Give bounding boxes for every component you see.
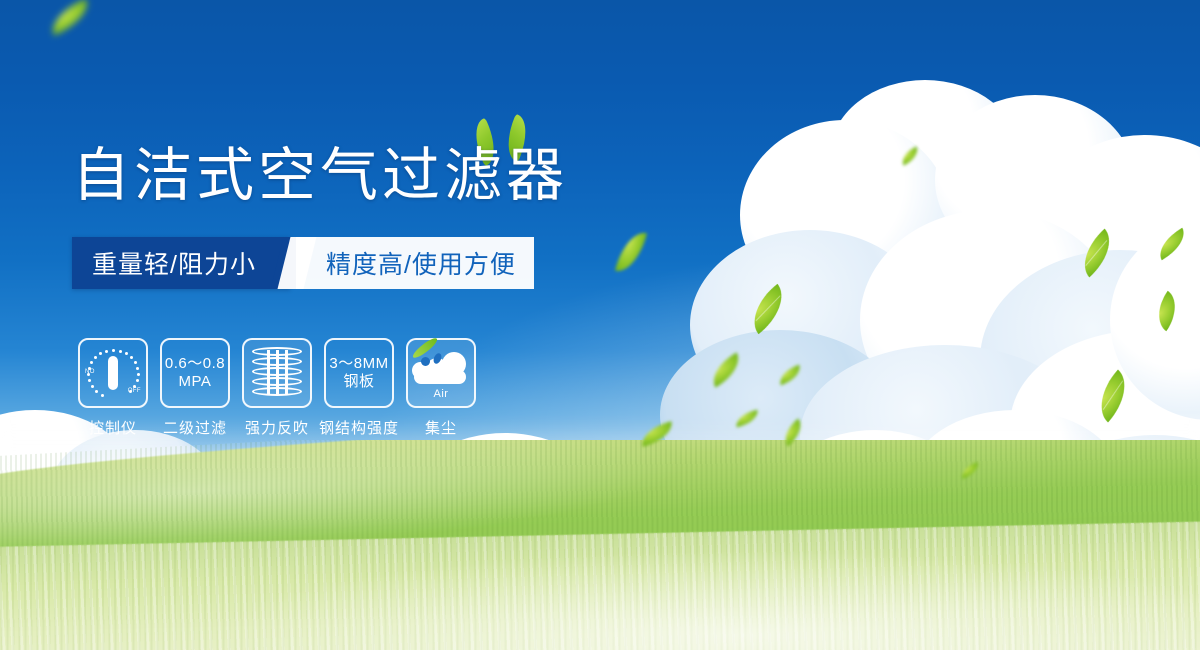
feature-label: 钢结构强度 [319, 417, 399, 438]
feature-icon-box: 3～8MM 钢板 [324, 338, 394, 408]
steel-material: 钢板 [329, 373, 388, 391]
subtitle-left-panel: 重量轻/阻力小 [72, 237, 290, 289]
feature-list: NO OFF 控制仪 0.6～0.8 MPA 二级过滤 [78, 338, 482, 438]
subtitle-left-text: 重量轻/阻力小 [92, 245, 256, 281]
coil-filter-icon [252, 347, 302, 399]
subtitle-bar: 重量轻/阻力小 精度高/使用方便 [72, 237, 534, 289]
subtitle-right-panel: 精度高/使用方便 [296, 237, 534, 289]
gauge-icon: NO OFF [85, 345, 141, 401]
gauge-no-label: NO [85, 369, 95, 375]
feature-label: 二级过滤 [163, 417, 227, 438]
pressure-unit: MPA [165, 373, 225, 391]
pressure-value: 0.6～0.8 [165, 355, 225, 372]
feature-label: 强力反吹 [245, 417, 309, 438]
feature-icon-box: Air [406, 338, 476, 408]
grass-field [0, 440, 1200, 650]
feature-item-controller[interactable]: NO OFF 控制仪 [78, 338, 148, 438]
feature-item-secondary-filter[interactable]: 0.6～0.8 MPA 二级过滤 [160, 338, 230, 438]
feature-item-steel-strength[interactable]: 3～8MM 钢板 钢结构强度 [324, 338, 394, 438]
page-title: 自洁式空气过滤器 [72, 143, 568, 209]
banner-stage: 自洁式空气过滤器 重量轻/阻力小 精度高/使用方便 [0, 0, 1200, 650]
steel-plate-text-icon: 3～8MM 钢板 [329, 355, 388, 391]
steel-thickness: 3～8MM [329, 355, 388, 372]
feature-icon-box: 0.6～0.8 MPA [160, 338, 230, 408]
feature-icon-box [242, 338, 312, 408]
grass-highlight [0, 500, 1200, 650]
air-cloud-icon: Air [412, 348, 470, 398]
feature-label: 集尘 [425, 417, 457, 438]
feature-icon-box: NO OFF [78, 338, 148, 408]
feature-item-backblow[interactable]: 强力反吹 [242, 338, 312, 438]
subtitle-right-text: 精度高/使用方便 [326, 245, 516, 281]
air-label: Air [412, 388, 470, 400]
pressure-text-icon: 0.6～0.8 MPA [165, 355, 225, 391]
feature-item-dust-collection[interactable]: Air 集尘 [406, 338, 476, 438]
gauge-off-label: OFF [128, 388, 141, 394]
feature-label: 控制仪 [89, 417, 137, 438]
